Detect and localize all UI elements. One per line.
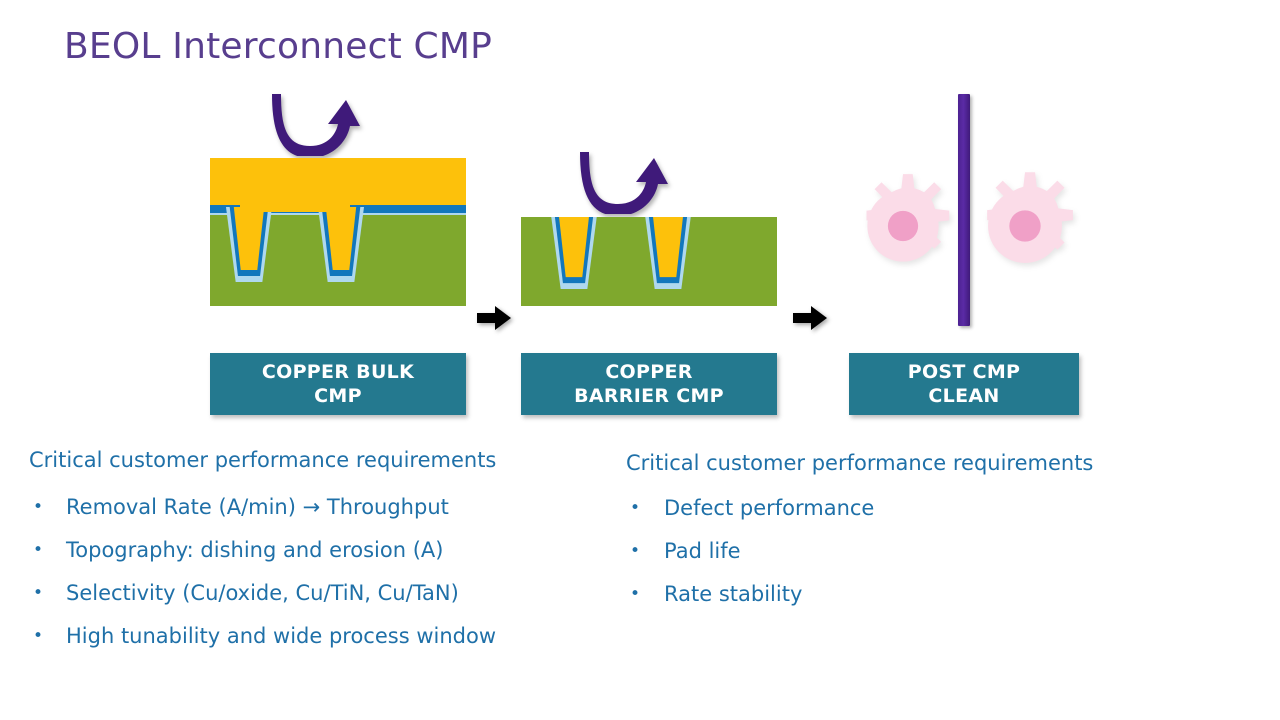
requirements-left-heading: Critical customer performance requiremen… bbox=[29, 445, 619, 475]
copper-bulk-cmp-cross-section bbox=[210, 158, 466, 306]
requirements-right-column: Critical customer performance requiremen… bbox=[626, 448, 1226, 616]
requirements-right-heading: Critical customer performance requiremen… bbox=[626, 448, 1226, 478]
rotation-arrow-icon bbox=[578, 146, 670, 214]
requirement-item: •Selectivity (Cu/oxide, Cu/TiN, Cu/TaN) bbox=[29, 572, 619, 615]
requirement-item-label: Pad life bbox=[664, 539, 741, 563]
requirement-item: •Pad life bbox=[626, 530, 1226, 573]
caption-line-2: CLEAN bbox=[928, 385, 999, 407]
caption-line-1: COPPER bbox=[605, 361, 692, 383]
requirements-right-list: •Defect performance•Pad life•Rate stabil… bbox=[626, 487, 1226, 616]
bullet-glyph: • bbox=[33, 486, 43, 529]
divider-bar bbox=[958, 94, 970, 326]
process-step-post-cmp-clean: POST CMPCLEAN bbox=[849, 80, 1079, 415]
rotation-arrow-icon bbox=[270, 88, 362, 156]
bullet-glyph: • bbox=[33, 572, 43, 615]
process-step-copper-barrier-cmp: COPPERBARRIER CMP bbox=[521, 80, 777, 415]
requirement-item: •Topography: dishing and erosion (A) bbox=[29, 529, 619, 572]
requirement-item-label: Defect performance bbox=[664, 496, 874, 520]
requirement-item-label: Topography: dishing and erosion (A) bbox=[66, 538, 443, 562]
requirements-left-list: •Removal Rate (A/min) → Throughput•Topog… bbox=[29, 486, 619, 658]
step-arrow-icon bbox=[477, 305, 511, 331]
step-caption-copper-bulk-cmp: COPPER BULKCMP bbox=[210, 353, 466, 415]
caption-line-1: COPPER BULK bbox=[262, 361, 414, 383]
gear-icon bbox=[849, 172, 957, 280]
requirement-item: •Defect performance bbox=[626, 487, 1226, 530]
trench-liner-group bbox=[645, 217, 691, 289]
page-title: BEOL Interconnect CMP bbox=[64, 26, 492, 67]
requirement-item-label: Rate stability bbox=[664, 582, 802, 606]
trench-liner-group bbox=[551, 217, 597, 289]
bullet-glyph: • bbox=[630, 573, 640, 616]
trench-liner-group bbox=[226, 207, 272, 282]
trench-liner-group bbox=[318, 207, 364, 282]
gear-icon bbox=[969, 170, 1081, 282]
post-cmp-clean-illustration bbox=[849, 80, 1079, 330]
requirement-item: •Removal Rate (A/min) → Throughput bbox=[29, 486, 619, 529]
requirement-item-label: Selectivity (Cu/oxide, Cu/TiN, Cu/TaN) bbox=[66, 581, 459, 605]
requirement-item-label: Removal Rate (A/min) → Throughput bbox=[66, 495, 449, 519]
step-caption-copper-barrier-cmp: COPPERBARRIER CMP bbox=[521, 353, 777, 415]
requirement-item-label: High tunability and wide process window bbox=[66, 624, 496, 648]
step-arrow-icon bbox=[793, 305, 827, 331]
caption-line-2: BARRIER CMP bbox=[574, 385, 724, 407]
bullet-glyph: • bbox=[630, 487, 640, 530]
bullet-glyph: • bbox=[33, 615, 43, 658]
requirement-item: •High tunability and wide process window bbox=[29, 615, 619, 658]
requirements-left-column: Critical customer performance requiremen… bbox=[29, 445, 619, 658]
caption-line-2: CMP bbox=[314, 385, 362, 407]
bullet-glyph: • bbox=[33, 529, 43, 572]
process-flow-diagram: COPPER BULKCMP COP bbox=[0, 80, 1280, 420]
bullet-glyph: • bbox=[630, 530, 640, 573]
copper-barrier-cmp-cross-section bbox=[521, 217, 777, 306]
step-caption-post-cmp-clean: POST CMPCLEAN bbox=[849, 353, 1079, 415]
requirement-item: •Rate stability bbox=[626, 573, 1226, 616]
caption-line-1: POST CMP bbox=[908, 361, 1021, 383]
process-step-copper-bulk-cmp: COPPER BULKCMP bbox=[210, 80, 466, 415]
